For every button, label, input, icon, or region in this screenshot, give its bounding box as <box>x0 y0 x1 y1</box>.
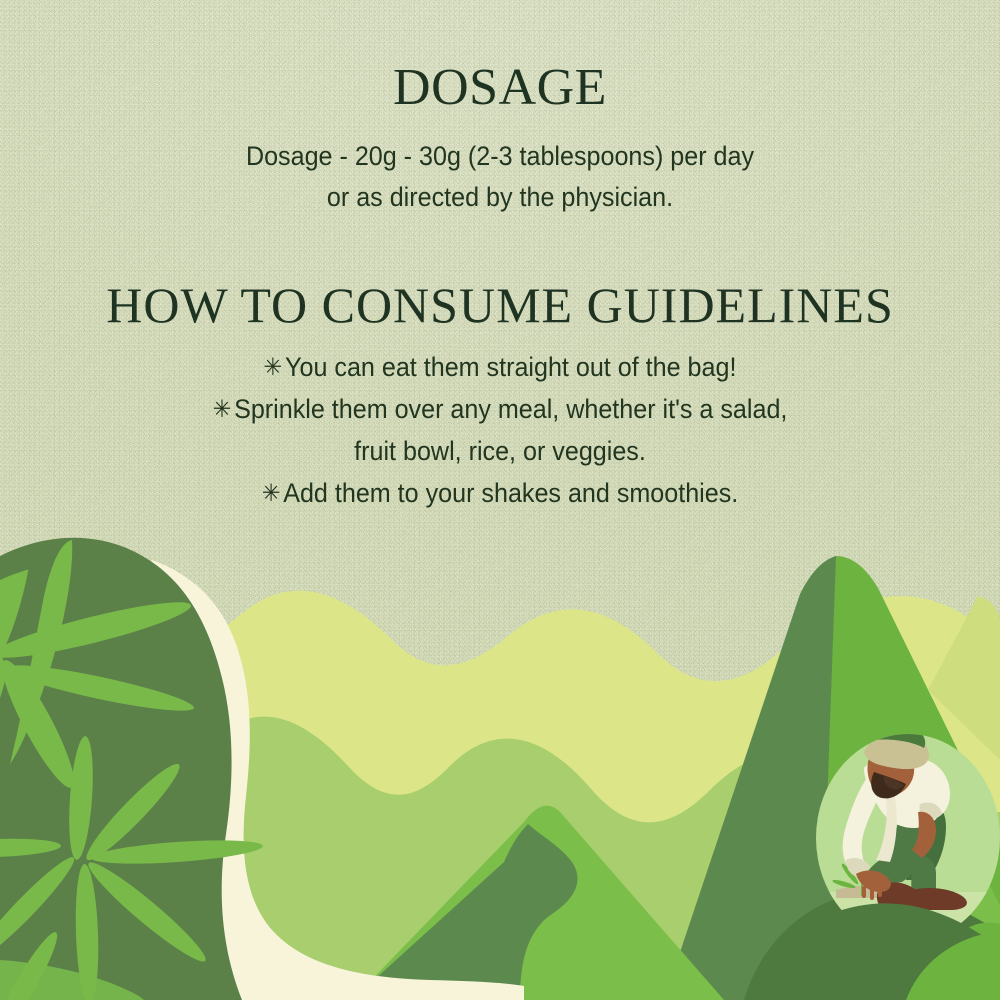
dosage-line: or as directed by the physician. <box>35 177 965 218</box>
hemp-asterisk-icon: ✳ <box>213 398 232 422</box>
guidelines-heading: HOW TO CONSUME GUIDELINES <box>0 280 1000 330</box>
guidelines-bullet-list: ✳You can eat them straight out of the ba… <box>0 346 1000 514</box>
hemp-asterisk-icon: ✳ <box>264 356 283 380</box>
guideline-bullet: ✳Add them to your shakes and smoothies. <box>35 472 965 514</box>
guideline-bullet-text: Add them to your shakes and smoothies. <box>283 478 738 508</box>
text-content-block: DOSAGE Dosage - 20g - 30g (2-3 tablespoo… <box>0 0 1000 515</box>
dosage-heading: DOSAGE <box>0 62 1000 114</box>
guideline-bullet: ✳You can eat them straight out of the ba… <box>35 346 965 388</box>
poster-canvas: DOSAGE Dosage - 20g - 30g (2-3 tablespoo… <box>0 0 1000 1000</box>
dosage-lines: Dosage - 20g - 30g (2-3 tablespoons) per… <box>0 136 1000 218</box>
guideline-bullet-text: You can eat them straight out of the bag… <box>285 352 736 382</box>
dosage-line: Dosage - 20g - 30g (2-3 tablespoons) per… <box>35 136 965 177</box>
guideline-bullet-text: Sprinkle them over any meal, whether it'… <box>234 394 787 424</box>
guideline-bullet-continuation: fruit bowl, rice, or veggies. <box>35 430 965 472</box>
guideline-bullet: ✳Sprinkle them over any meal, whether it… <box>35 388 965 430</box>
hemp-asterisk-icon: ✳ <box>262 482 281 506</box>
